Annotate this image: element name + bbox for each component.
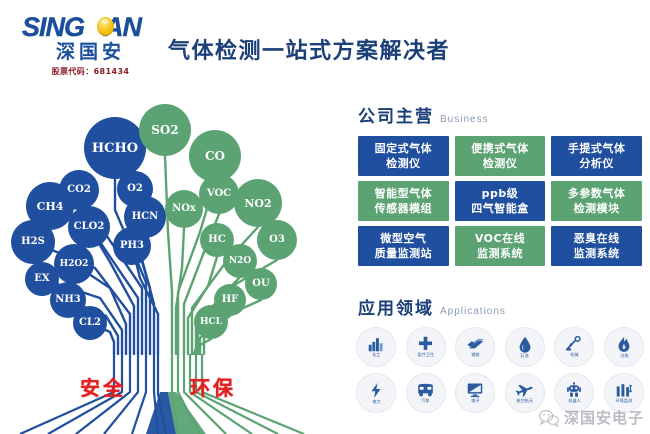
application-label: 钢铁: [471, 353, 479, 358]
airplane-icon: [515, 382, 534, 398]
oil-drop-icon: [518, 336, 532, 353]
application-item-chemical[interactable]: 化工: [356, 327, 396, 367]
applications-title-cn: 应用领域: [358, 299, 434, 319]
gas-node[interactable]: O3: [257, 220, 297, 260]
application-item-petroleum[interactable]: 石油: [505, 327, 545, 367]
tree-trunk-roots: [20, 354, 304, 434]
gas-node[interactable]: HCL: [194, 305, 228, 339]
application-label: 电力: [372, 400, 380, 405]
application-label: 化工: [372, 353, 380, 358]
business-title-en: Business: [440, 114, 489, 125]
gas-node[interactable]: PH3: [113, 227, 151, 265]
business-card[interactable]: VOC在线监测系统: [455, 226, 546, 266]
applications-row-1: 化工 医疗卫生 钢铁: [356, 327, 644, 367]
logo-o-circle-icon: [97, 17, 114, 36]
gas-node[interactable]: OU: [245, 268, 277, 300]
logo-chinese-name: 深国安: [18, 41, 163, 63]
stock-code-label: 股票代码：681434: [18, 66, 163, 77]
gas-node[interactable]: CL2: [73, 306, 107, 340]
watermark-text: 深国安电子: [564, 407, 644, 428]
gas-node[interactable]: H2O2: [54, 244, 94, 284]
application-item-automobile[interactable]: 汽车: [406, 373, 446, 413]
application-label: 医疗卫生: [417, 353, 434, 358]
brand-logo: SINGOAN 深国安 股票代码：681434: [18, 14, 163, 77]
business-card[interactable]: 固定式气体检测仪: [358, 136, 449, 176]
gas-node[interactable]: VOC: [199, 174, 239, 214]
application-label: 电子: [471, 399, 479, 404]
gas-tree-illustration: HCHO CO2 O2 CH4 CLO2 HCN H2S H2O2 PH3 EX…: [0, 92, 345, 434]
robot-icon: [566, 382, 582, 398]
business-card[interactable]: 多参数气体检测模块: [551, 181, 642, 221]
application-label: 环境监测: [616, 399, 633, 404]
business-card[interactable]: 便携式气体检测仪: [455, 136, 546, 176]
gas-node[interactable]: HCHO: [84, 117, 146, 179]
page-title: 气体检测一站式方案解决者: [168, 33, 450, 65]
gas-node[interactable]: CLO2: [68, 206, 110, 248]
medical-cross-icon: [417, 336, 434, 352]
application-item-machinery[interactable]: 机械: [554, 327, 594, 367]
monitor-icon: [466, 382, 484, 398]
business-grid: 固定式气体检测仪 便携式气体检测仪 手提式气体分析仪 智能型气体传感器模组 pp…: [358, 136, 642, 266]
application-label: 冶炼: [620, 354, 628, 359]
flame-icon: [617, 336, 631, 353]
gas-node[interactable]: SO2: [139, 104, 191, 156]
applications-grid: 化工 医疗卫生 钢铁: [356, 327, 644, 419]
wechat-icon: [538, 409, 560, 427]
applications-title-en: Applications: [440, 306, 506, 317]
application-item-electronics[interactable]: 电子: [455, 373, 495, 413]
application-label: 汽车: [421, 399, 429, 404]
lightning-icon: [370, 382, 382, 399]
wechat-watermark: 深国安电子: [538, 407, 644, 428]
poster-canvas: SINGOAN 深国安 股票代码：681434 气体检测一站式方案解决者: [0, 0, 650, 434]
robot-arm-icon: [565, 336, 583, 352]
gas-node[interactable]: H2S: [11, 220, 55, 264]
business-section-header: 公司主营Business: [358, 102, 489, 127]
application-label: 石油: [521, 354, 529, 359]
application-item-medical[interactable]: 医疗卫生: [406, 327, 446, 367]
business-title-cn: 公司主营: [358, 107, 434, 127]
gas-node[interactable]: NOx: [165, 190, 203, 228]
application-label: 机器人: [568, 399, 581, 404]
applications-section-header: 应用领域Applications: [358, 294, 506, 319]
ground-label-safety: 安全: [80, 372, 126, 401]
application-item-steel[interactable]: 钢铁: [455, 327, 495, 367]
ground-label-environment: 环保: [190, 372, 236, 401]
business-card[interactable]: 微型空气质量监测站: [358, 226, 449, 266]
steel-beam-icon: [466, 336, 485, 352]
business-card[interactable]: 手提式气体分析仪: [551, 136, 642, 176]
business-card[interactable]: 智能型气体传感器模组: [358, 181, 449, 221]
factory-icon: [367, 336, 385, 352]
application-label: 机械: [570, 353, 578, 358]
logo-wordmark: SINGOAN: [18, 14, 163, 40]
logo-latin-text: SINGOAN: [18, 14, 163, 40]
business-card[interactable]: ppb级四气智能盒: [455, 181, 546, 221]
application-label: 航空航天: [516, 399, 533, 404]
bus-icon: [416, 383, 435, 398]
application-item-smelting[interactable]: 冶炼: [604, 327, 644, 367]
chimney-icon: [615, 382, 633, 398]
application-item-power[interactable]: 电力: [356, 373, 396, 413]
business-card[interactable]: 恶臭在线监测系统: [551, 226, 642, 266]
